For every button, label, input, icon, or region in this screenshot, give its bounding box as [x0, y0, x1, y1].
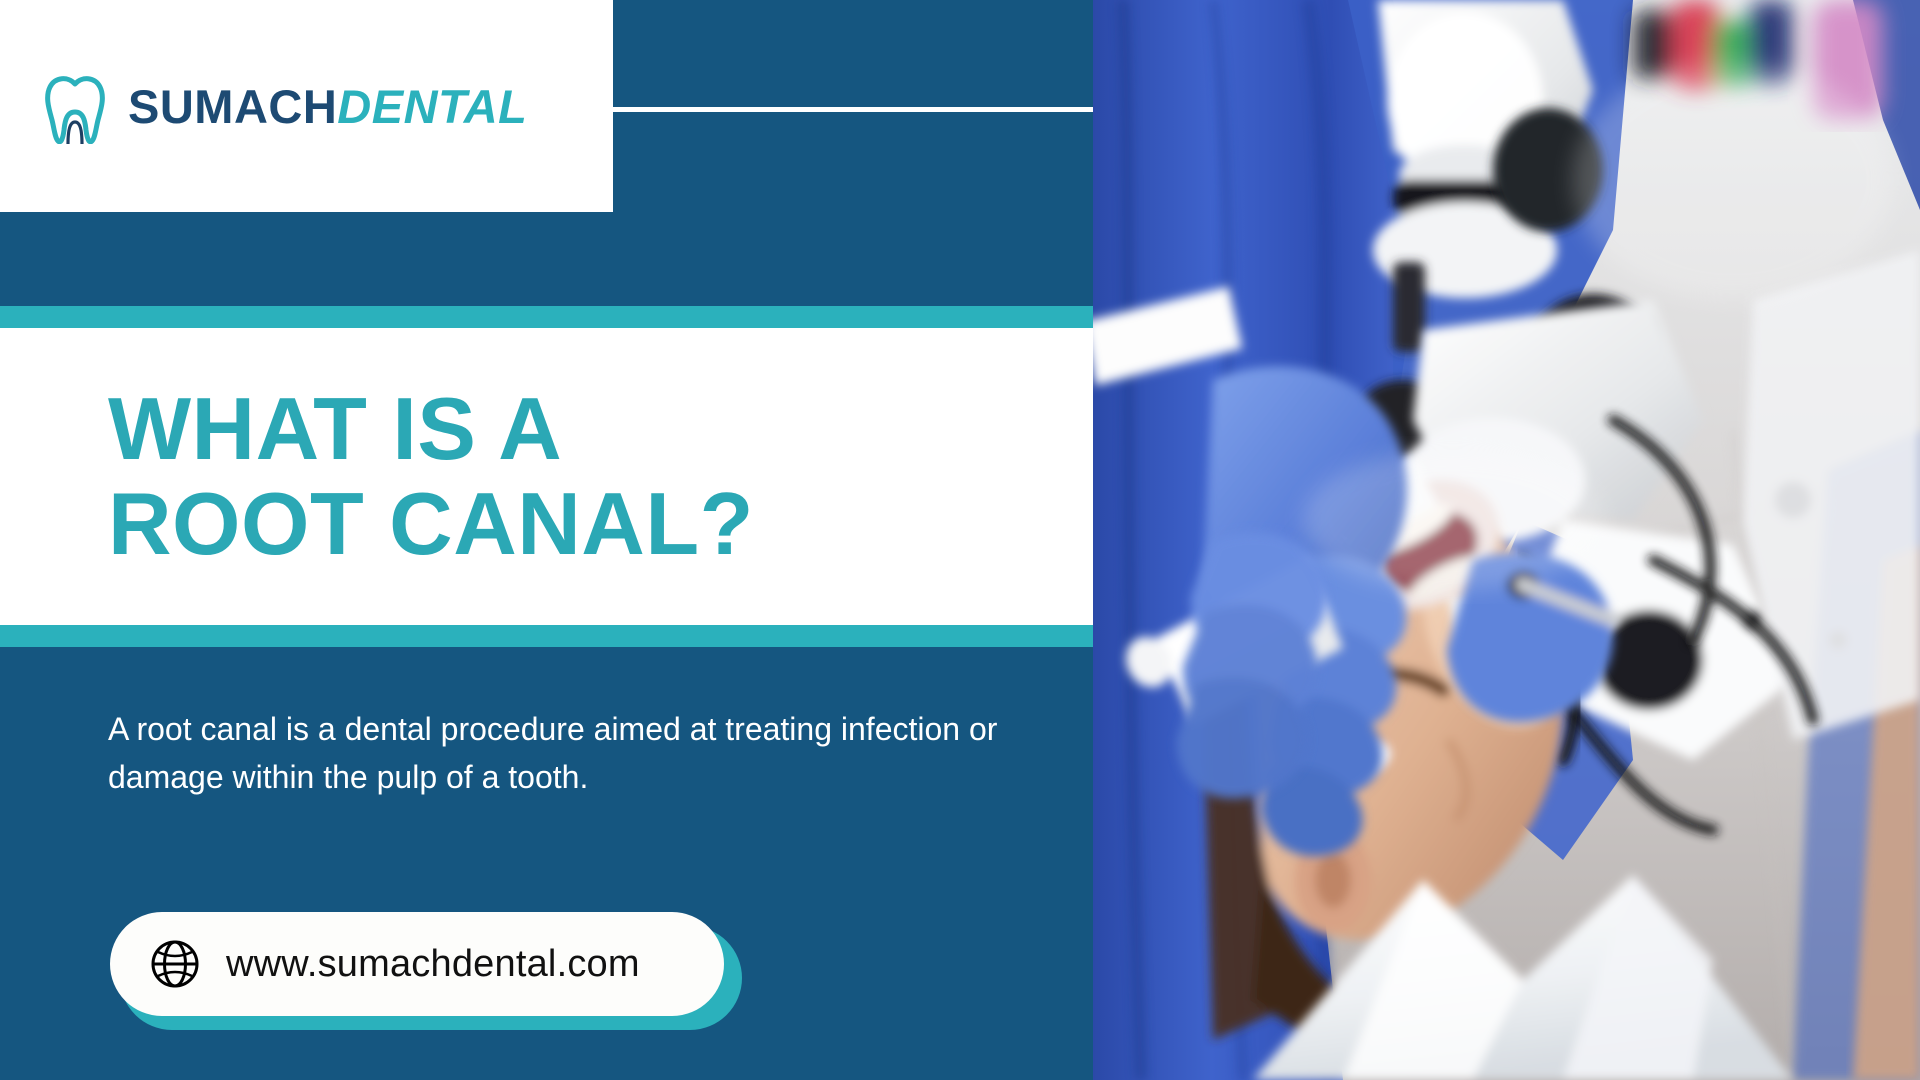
heading-bottom-accent-bar	[0, 625, 1093, 647]
heading-top-accent-bar	[0, 306, 1093, 328]
brand-name-part2: DENTAL	[337, 80, 527, 133]
poster-canvas: SUMACHDENTAL WHAT IS A ROOT CANAL? A roo…	[0, 0, 1920, 1080]
page-title-line-2: ROOT CANAL?	[108, 477, 754, 571]
left-content-panel: SUMACHDENTAL WHAT IS A ROOT CANAL? A roo…	[0, 0, 1093, 1080]
clinic-photo	[1093, 0, 1920, 1080]
page-title: WHAT IS A ROOT CANAL?	[0, 382, 754, 570]
tooth-icon	[44, 74, 106, 144]
body-paragraph: A root canal is a dental procedure aimed…	[108, 705, 1028, 801]
header-divider-line	[613, 107, 1093, 112]
globe-icon	[150, 939, 200, 989]
website-cta-pill[interactable]: www.sumachdental.com	[110, 912, 724, 1016]
heading-band: WHAT IS A ROOT CANAL?	[0, 328, 1093, 625]
brand-name-part1: SUMACH	[128, 80, 337, 133]
brand-wordmark: SUMACHDENTAL	[128, 83, 527, 130]
page-title-line-1: WHAT IS A	[108, 382, 754, 476]
website-url-label: www.sumachdental.com	[226, 943, 640, 986]
website-cta[interactable]: www.sumachdental.com	[110, 912, 742, 1030]
brand-logo-card[interactable]: SUMACHDENTAL	[0, 0, 613, 212]
